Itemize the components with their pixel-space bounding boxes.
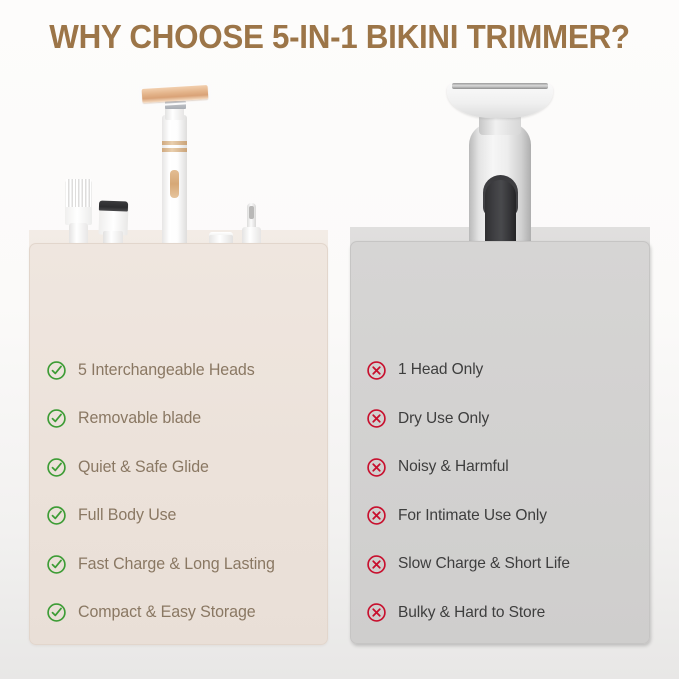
list-item: 5 Interchangeable Heads [45,356,260,384]
list-item: Noisy & Harmful [365,453,512,481]
x-circle-icon [365,505,387,527]
list-item: Quiet & Safe Glide [45,453,213,481]
list-item: Removable blade [45,405,205,433]
list-item: Bulky & Hard to Store [365,599,550,627]
left-feature-label: Removable blade [78,409,201,428]
right-feature-label: Noisy & Harmful [398,458,509,476]
list-item: Slow Charge & Short Life [365,550,575,578]
infographic-canvas: WHY CHOOSE 5-IN-1 BIKINI TRIMMER? [0,0,679,679]
trimmer-power-switch [170,170,179,198]
right-feature-label: For Intimate Use Only [398,507,547,525]
check-circle-icon [45,456,67,478]
list-item: 1 Head Only [365,356,486,384]
left-feature-label: Compact & Easy Storage [78,603,256,622]
comb-teeth-icon [66,179,91,207]
check-circle-icon [45,408,67,430]
left-feature-label: Fast Charge & Long Lasting [78,555,275,574]
check-circle-icon [45,505,67,527]
right-feature-label: Dry Use Only [398,410,489,428]
shaver-blade-head [447,84,553,118]
left-feature-label: 5 Interchangeable Heads [78,361,255,380]
left-feature-label: Quiet & Safe Glide [78,458,209,477]
x-circle-icon [365,602,387,624]
pros-panel: 5 Interchangeable HeadsRemovable bladeQu… [29,243,328,645]
list-item: Fast Charge & Long Lasting [45,550,281,578]
right-feature-label: 1 Head Only [398,361,483,379]
foil-attachment-blade [99,200,128,211]
left-feature-label: Full Body Use [78,506,176,525]
shaver-blade-edge [452,83,548,89]
x-circle-icon [365,408,387,430]
page-title: WHY CHOOSE 5-IN-1 BIKINI TRIMMER? [17,18,662,56]
check-circle-icon [45,553,67,575]
list-item: For Intimate Use Only [365,502,552,530]
x-circle-icon [365,359,387,381]
cons-panel: 1 Head OnlyDry Use OnlyNoisy & HarmfulFo… [350,241,650,644]
check-circle-icon [45,359,67,381]
right-feature-label: Bulky & Hard to Store [398,604,545,622]
x-circle-icon [365,553,387,575]
list-item: Compact & Easy Storage [45,599,261,627]
list-item: Dry Use Only [365,405,492,433]
blade-head-frame [138,82,211,107]
trimmer-accent-ring-2 [162,148,187,152]
list-item: Full Body Use [45,502,179,530]
right-feature-label: Slow Charge & Short Life [398,555,570,573]
trimmer-accent-ring-1 [162,141,187,145]
nose-trimmer-slot-icon [249,206,254,219]
check-circle-icon [45,602,67,624]
x-circle-icon [365,456,387,478]
